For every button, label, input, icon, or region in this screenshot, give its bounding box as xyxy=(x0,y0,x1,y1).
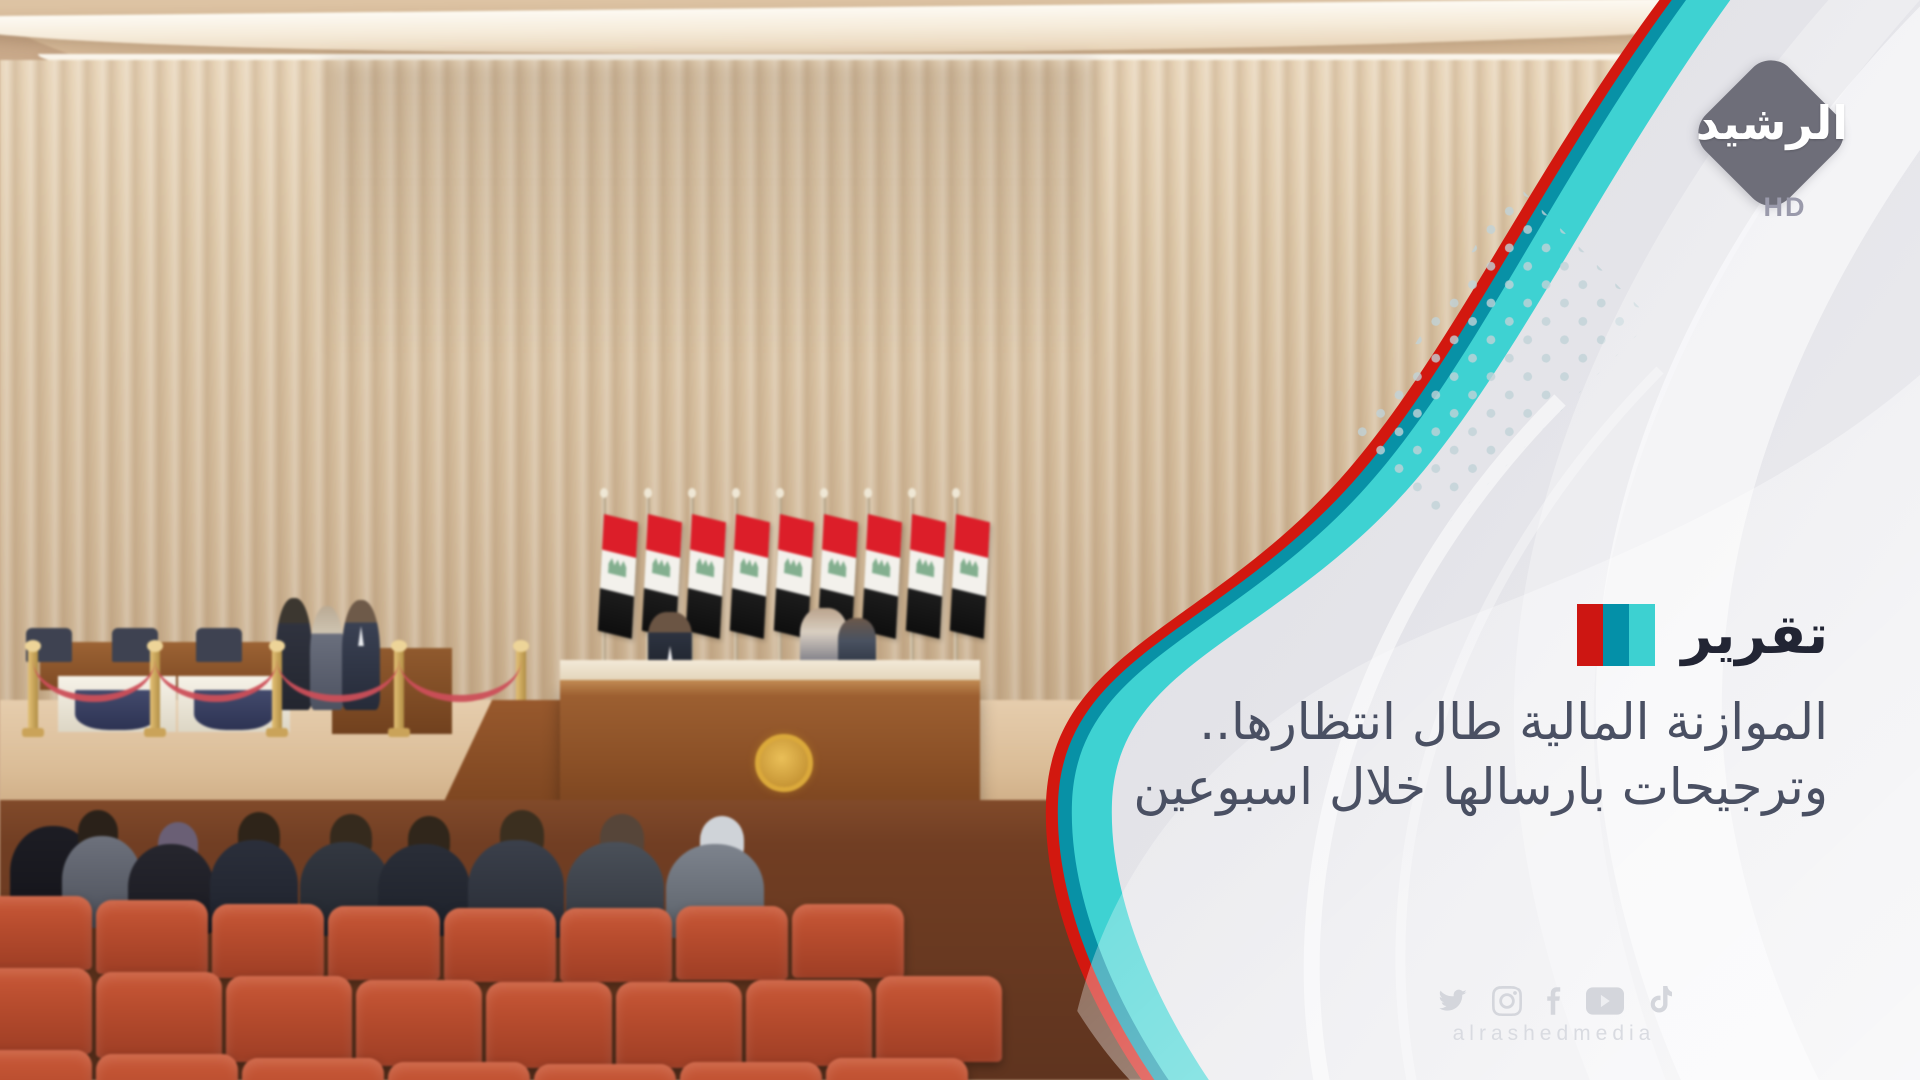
curtain-shadow xyxy=(326,60,1094,360)
seat xyxy=(0,1050,92,1080)
seat xyxy=(212,904,324,978)
channel-logo[interactable]: الرشيد HD xyxy=(1698,66,1848,216)
social-icon-row xyxy=(1436,986,1672,1016)
kicker-label: تقرير xyxy=(1681,608,1828,662)
headline: الموازنة المالية طال انتظارها.. وترجيحات… xyxy=(868,690,1828,820)
headline-line-2: وترجيحات بارسالها خلال اسبوعين xyxy=(868,755,1828,820)
social-footer: alrashedmedia xyxy=(1436,986,1672,1046)
seat xyxy=(356,980,482,1066)
seat xyxy=(0,896,92,970)
seat xyxy=(444,908,556,982)
kicker-bar-teal-light xyxy=(1629,604,1655,666)
seat xyxy=(242,1058,384,1080)
seat xyxy=(328,906,440,980)
tiktok-icon[interactable] xyxy=(1646,986,1672,1016)
seat xyxy=(876,976,1002,1062)
social-handle: alrashedmedia xyxy=(1453,1022,1656,1046)
facebook-icon[interactable] xyxy=(1544,986,1564,1016)
parliament-photo xyxy=(0,0,1920,1080)
seat xyxy=(792,904,904,978)
instagram-icon[interactable] xyxy=(1492,986,1522,1016)
twitter-icon[interactable] xyxy=(1436,986,1470,1016)
logo-wordmark: الرشيد xyxy=(1698,96,1848,150)
seat xyxy=(388,1062,530,1080)
kicker-row: تقرير xyxy=(1577,604,1828,666)
seat xyxy=(676,906,788,980)
seat xyxy=(616,982,742,1068)
kicker-bar-red xyxy=(1577,604,1603,666)
seat xyxy=(486,982,612,1068)
kicker-color-bars xyxy=(1577,604,1655,666)
kicker-bar-teal-dark xyxy=(1603,604,1629,666)
seat xyxy=(0,968,92,1054)
hd-badge: HD xyxy=(1698,192,1872,223)
headline-line-1: الموازنة المالية طال انتظارها.. xyxy=(868,690,1828,755)
seat xyxy=(826,1058,968,1080)
chair xyxy=(196,628,242,662)
seat xyxy=(96,972,222,1058)
seat xyxy=(560,908,672,982)
seat xyxy=(680,1062,822,1080)
broadcast-graphic: الرشيد HD تقرير الموازنة المالية طال انت… xyxy=(0,0,1920,1080)
seat xyxy=(226,976,352,1062)
youtube-icon[interactable] xyxy=(1586,987,1624,1015)
seat xyxy=(96,900,208,974)
national-emblem xyxy=(755,734,813,792)
seat xyxy=(534,1064,676,1080)
seat xyxy=(746,980,872,1066)
seat xyxy=(96,1054,238,1080)
